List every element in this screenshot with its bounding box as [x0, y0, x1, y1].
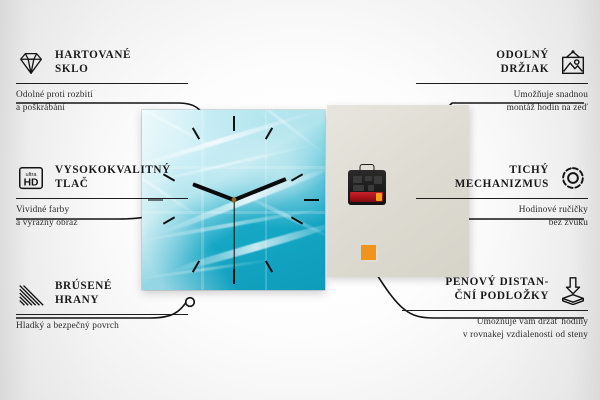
- feature-divider: [16, 83, 188, 84]
- feature-divider: [402, 310, 588, 311]
- feature-divider: [416, 198, 588, 199]
- feature-description: Umožňuje vám držať hodiny v rovnakej vzd…: [402, 316, 588, 342]
- mech-slot-d: [353, 185, 364, 191]
- second-hand: [233, 200, 234, 270]
- feature-divider: [416, 83, 588, 84]
- hanger-hook-icon: [360, 164, 375, 173]
- feature-durable-holder: ODOLNÝ DRŽIAK Umožňuje snadnou montáž ho…: [416, 48, 588, 115]
- gear-icon: [558, 163, 588, 193]
- foam-spacer-pad: [361, 245, 376, 260]
- feature-title: PENOVÝ DISTAN- ČNÍ PODLOŽKY: [445, 276, 549, 303]
- feature-header: TICHÝ MECHANIZMUS: [416, 163, 588, 193]
- battery: [350, 192, 383, 202]
- mech-slot-b: [365, 176, 372, 181]
- infographic-canvas: HARTOVANÉ SKLO Odolné proti rozbití a po…: [0, 0, 600, 400]
- feature-tempered-glass: HARTOVANÉ SKLO Odolné proti rozbití a po…: [16, 48, 188, 115]
- feature-title: TICHÝ MECHANIZMUS: [455, 164, 549, 191]
- feature-high-quality-print: ultra HD VYSOKOKVALITNÝ TLAČ Vividné far…: [16, 163, 188, 230]
- feature-description: Umožňuje snadnou montáž hodin na zeď: [416, 89, 588, 115]
- feature-header: PENOVÝ DISTAN- ČNÍ PODLOŽKY: [402, 275, 588, 305]
- feature-divider: [16, 198, 188, 199]
- picture-frame-hanger-icon: [558, 48, 588, 78]
- mech-slot-e: [368, 185, 374, 191]
- diamond-icon: [16, 48, 46, 78]
- feature-header: BRÚSENÉ HRANY: [16, 279, 188, 309]
- ultra-hd-badge-icon: ultra HD: [16, 163, 46, 193]
- feature-title: BRÚSENÉ HRANY: [55, 280, 112, 307]
- feature-description: Hodinové ručičky bez zvuku: [416, 204, 588, 230]
- feature-header: ODOLNÝ DRŽIAK: [416, 48, 588, 78]
- feature-foam-spacers: PENOVÝ DISTAN- ČNÍ PODLOŽKY Umožňuje vám…: [402, 275, 588, 342]
- mech-slot-c: [374, 176, 382, 184]
- feature-title: VYSOKOKVALITNÝ TLAČ: [55, 164, 171, 191]
- svg-text:HD: HD: [24, 178, 39, 189]
- feature-polished-edges: BRÚSENÉ HRANY Hladký a bezpečný povrch: [16, 279, 188, 333]
- clock-center-pin: [231, 198, 236, 203]
- feature-description: Hladký a bezpečný povrch: [16, 320, 188, 333]
- foam-spacer-icon: [558, 275, 588, 305]
- feature-silent-mechanism: TICHÝ MECHANIZMUS Hodinové ručičky bez z…: [416, 163, 588, 230]
- brushed-edge-icon: [16, 279, 46, 309]
- mech-slot-a: [353, 176, 362, 183]
- feature-divider: [16, 314, 188, 315]
- tick-6: [233, 269, 235, 284]
- tick-12: [233, 116, 235, 131]
- feature-header: HARTOVANÉ SKLO: [16, 48, 188, 78]
- feature-title: ODOLNÝ DRŽIAK: [496, 49, 549, 76]
- feature-header: ultra HD VYSOKOKVALITNÝ TLAČ: [16, 163, 188, 193]
- tick-3: [304, 199, 319, 201]
- feature-title: HARTOVANÉ SKLO: [55, 49, 131, 76]
- feature-description: Vividné farby a výrazný obraz: [16, 204, 188, 230]
- feature-description: Odolné proti rozbití a poškrábání: [16, 89, 188, 115]
- clock-mechanism: [348, 170, 386, 205]
- battery-terminal: [376, 193, 382, 201]
